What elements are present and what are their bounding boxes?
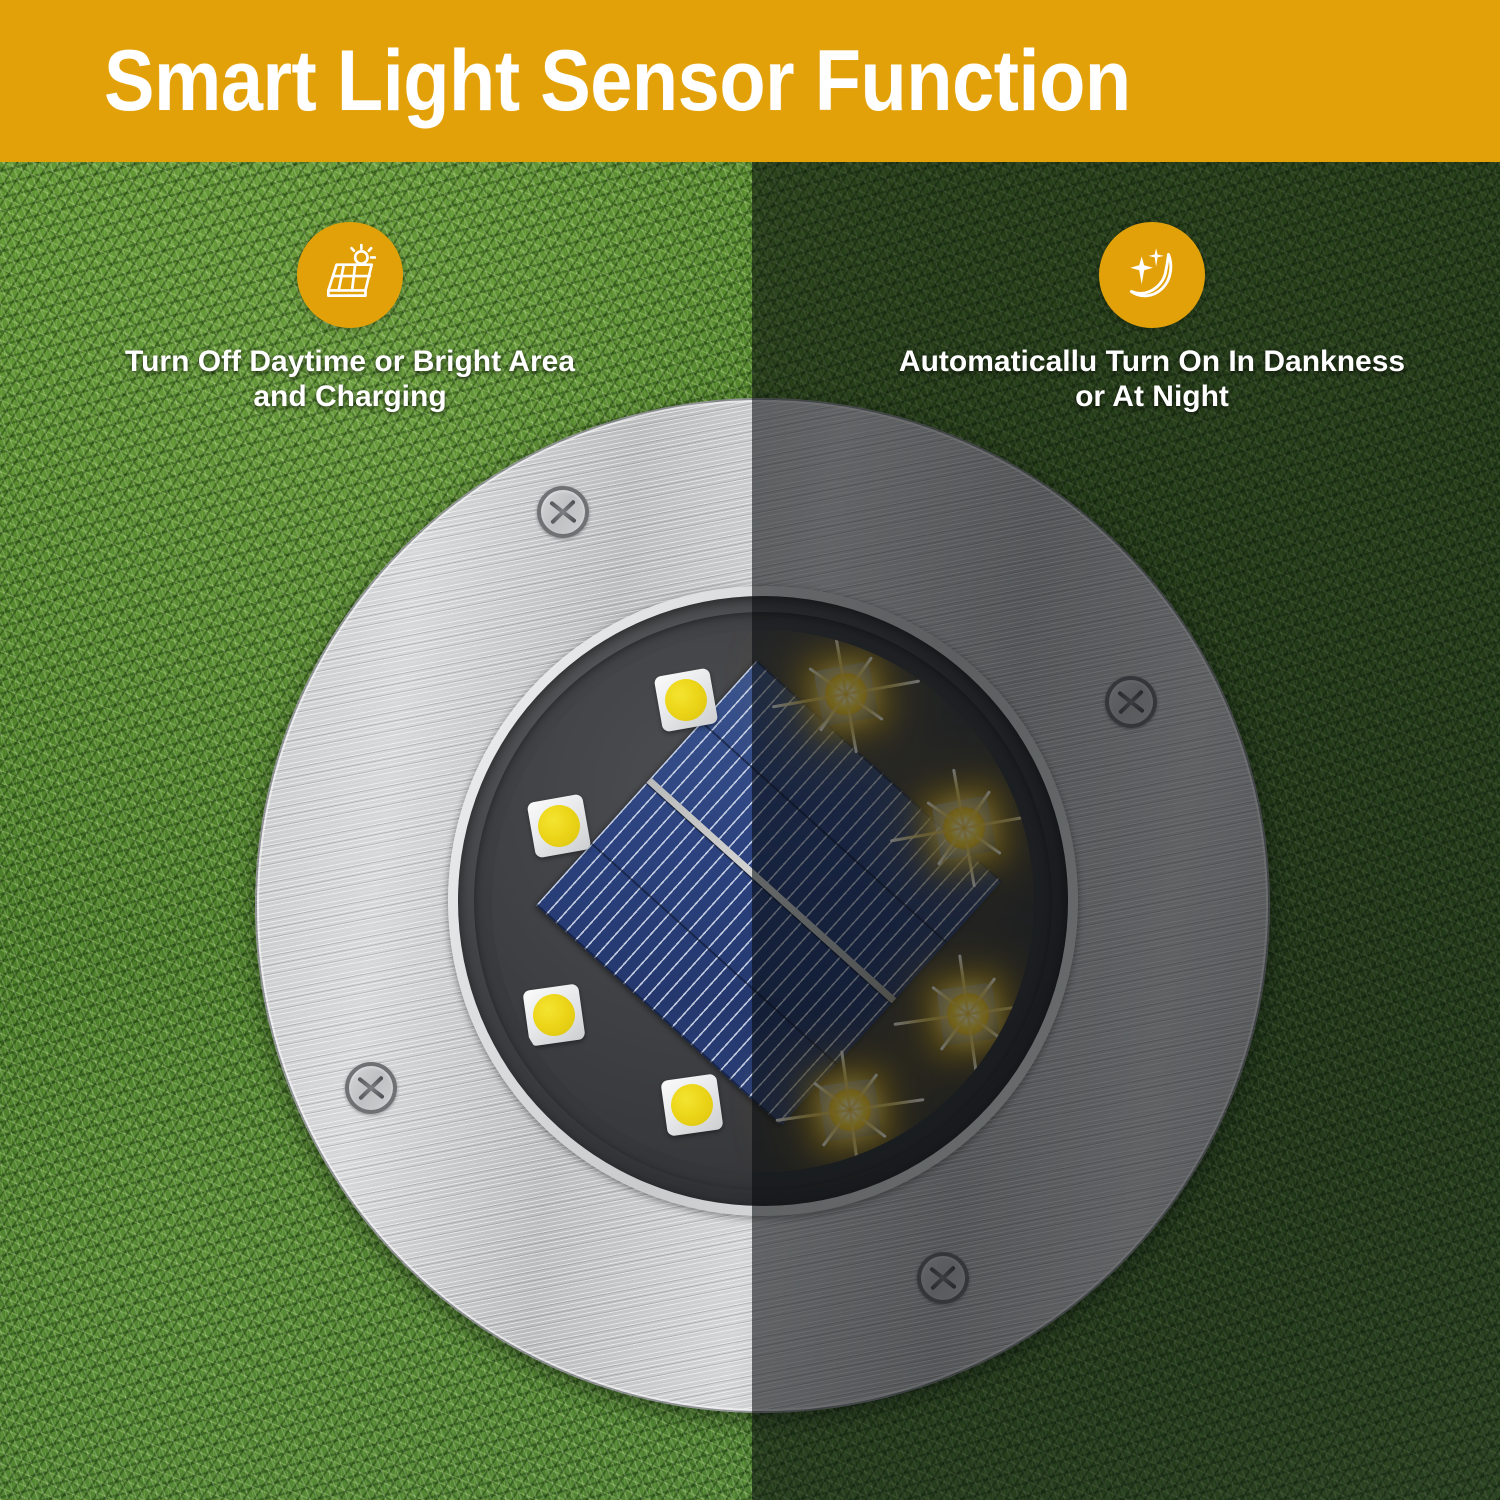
screw-bottom xyxy=(917,1252,969,1304)
feature-daytime: Turn Off Daytime or Bright Area and Char… xyxy=(60,222,640,415)
led-chip-on xyxy=(818,1078,881,1141)
led-chip-off xyxy=(654,668,719,733)
screw-bottom-left xyxy=(345,1062,397,1114)
led-chip-on xyxy=(936,982,999,1045)
feature-night-label: Automaticallu Turn On In Dankness or At … xyxy=(862,344,1442,415)
led-chip-off xyxy=(522,983,585,1046)
led-emitter-lit xyxy=(940,804,989,853)
screw-top-left xyxy=(537,486,589,538)
moon-stars-icon xyxy=(1099,222,1205,328)
lens-face xyxy=(492,630,1034,1172)
screw-right xyxy=(1105,676,1157,728)
led-chip-on xyxy=(932,796,997,861)
solar-ground-light-product xyxy=(255,398,1270,1413)
led-emitter xyxy=(668,1081,715,1128)
title-banner: Smart Light Sensor Function xyxy=(0,0,1500,162)
solar-panel-sun-icon xyxy=(297,222,403,328)
led-emitter-lit xyxy=(944,990,991,1037)
led-chip-off xyxy=(527,794,592,859)
feature-daytime-label: Turn Off Daytime or Bright Area and Char… xyxy=(60,344,640,415)
infographic-page: Turn Off Daytime or Bright Area and Char… xyxy=(0,0,1500,1500)
led-chip-on xyxy=(814,662,879,727)
led-emitter xyxy=(535,802,584,851)
led-emitter xyxy=(662,676,711,725)
led-chip-off xyxy=(660,1073,723,1136)
feature-night: Automaticallu Turn On In Dankness or At … xyxy=(862,222,1442,415)
led-emitter xyxy=(530,991,577,1038)
page-title: Smart Light Sensor Function xyxy=(104,38,1131,124)
led-emitter-lit xyxy=(822,670,871,719)
solar-panel xyxy=(536,660,1002,1126)
led-emitter-lit xyxy=(826,1086,873,1133)
